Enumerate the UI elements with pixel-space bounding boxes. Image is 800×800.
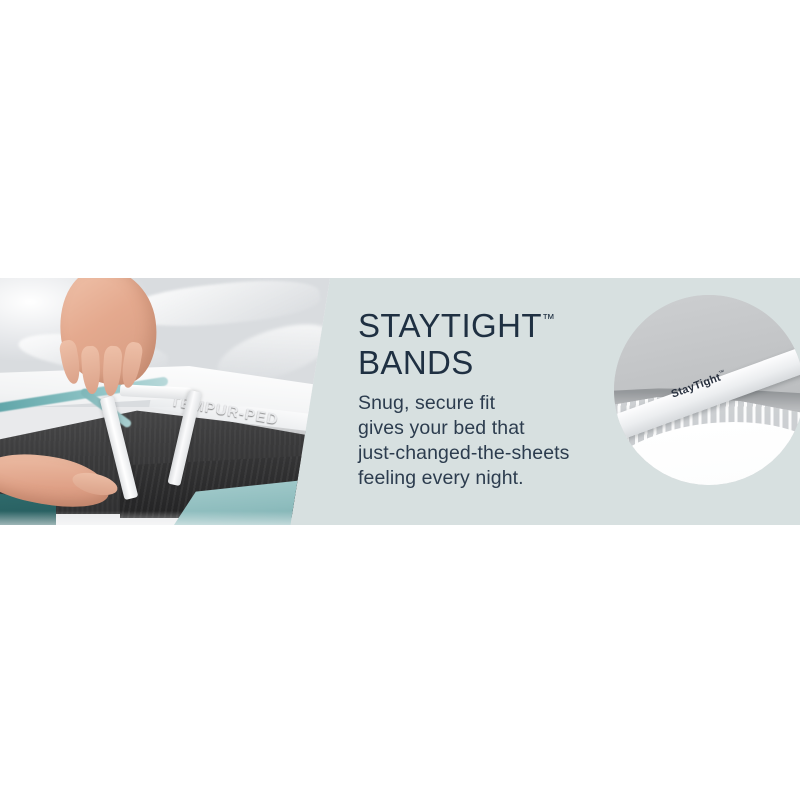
subcopy-line-3: just-changed-the-sheets bbox=[358, 441, 608, 466]
staytight-detail-circle-inset: StayTight™ bbox=[614, 295, 800, 485]
promo-headline: STAYTIGHT™BANDS bbox=[358, 300, 608, 381]
photo-bottom-fade bbox=[0, 511, 330, 525]
headline-line-2: BANDS bbox=[358, 344, 474, 381]
subcopy-line-4: feeling every night. bbox=[358, 466, 608, 491]
promo-subcopy: Snug, secure fit gives your bed that jus… bbox=[358, 391, 608, 491]
headline-line-1: STAYTIGHT bbox=[358, 307, 542, 344]
lifestyle-photo-mattress-protector: TEMPUR-PED bbox=[0, 278, 330, 525]
subcopy-line-2: gives your bed that bbox=[358, 416, 608, 441]
subcopy-line-1: Snug, secure fit bbox=[358, 391, 608, 416]
page-canvas: TEMPUR-PED STAYTIGHT™BANDS Snug, secure … bbox=[0, 0, 800, 800]
band-trademark-symbol: ™ bbox=[718, 369, 726, 377]
trademark-symbol: ™ bbox=[542, 311, 555, 326]
staytight-bands-promo-banner: TEMPUR-PED STAYTIGHT™BANDS Snug, secure … bbox=[0, 278, 800, 525]
promo-copy-block: STAYTIGHT™BANDS Snug, secure fit gives y… bbox=[358, 300, 608, 491]
